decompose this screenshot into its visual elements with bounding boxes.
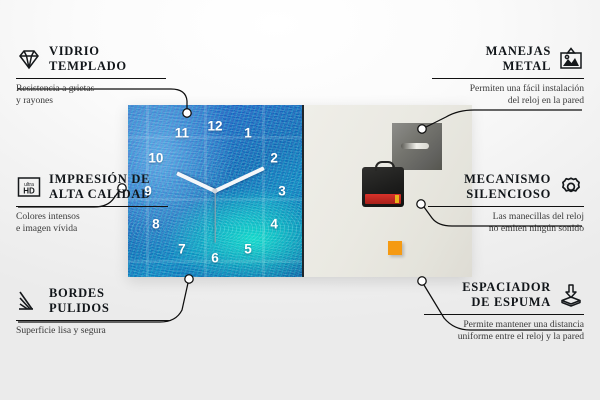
product-photo: 12 1 2 3 4 5 6 7 8 9 10 11	[128, 105, 470, 277]
polished-edges-icon	[16, 289, 42, 313]
callout-header: VIDRIO TEMPLADO	[16, 44, 166, 75]
clock-number-2: 2	[270, 151, 278, 166]
clock-minute-hand	[212, 166, 264, 193]
metal-hanger-plate	[392, 123, 442, 170]
callout-subtitle: Superficie lisa y segura	[16, 325, 171, 337]
mechanism-hook	[375, 161, 395, 171]
callout-espaciador-espuma: ESPACIADOR DE ESPUMA Permite mantener un…	[424, 280, 584, 344]
clock-number-12: 12	[207, 118, 222, 133]
callout-rule	[424, 314, 584, 316]
orange-foam-spacer	[388, 241, 402, 255]
callout-rule	[432, 78, 584, 80]
callout-title: MANEJAS METAL	[486, 44, 551, 75]
callout-subtitle: Resistencia a grietas y rayones	[16, 83, 166, 108]
clock-number-6: 6	[211, 251, 219, 266]
callout-rule	[16, 320, 171, 322]
clock-number-3: 3	[278, 184, 286, 199]
clock-number-5: 5	[244, 242, 252, 257]
callout-subtitle: Permite mantener una distancia uniforme …	[424, 319, 584, 344]
clock-number-9: 9	[144, 184, 152, 199]
clock-number-10: 10	[148, 151, 163, 166]
callout-vidrio-templado: VIDRIO TEMPLADO Resistencia a grietas y …	[16, 44, 166, 108]
svg-text:HD: HD	[23, 187, 35, 196]
clock-center-cap	[213, 189, 218, 194]
callout-header: MECANISMO SILENCIOSO	[428, 172, 584, 203]
silent-quartz-mechanism	[362, 167, 404, 207]
callout-title: VIDRIO TEMPLADO	[49, 44, 127, 75]
picture-frame-icon	[558, 47, 584, 71]
callout-rule	[16, 78, 166, 80]
hanger-keyhole-slot	[401, 143, 429, 149]
clock-second-hand	[214, 189, 215, 243]
callout-subtitle: Las manecillas del reloj no emiten ningú…	[428, 211, 584, 236]
callout-title: ESPACIADOR DE ESPUMA	[462, 280, 551, 311]
callout-impresion-alta-calidad: ultra HD IMPRESIÓN DE ALTA CALIDAD Color…	[16, 172, 168, 236]
callout-header: ESPACIADOR DE ESPUMA	[424, 280, 584, 311]
callout-header: BORDES PULIDOS	[16, 286, 171, 317]
infographic-stage: 12 1 2 3 4 5 6 7 8 9 10 11	[0, 0, 600, 400]
ultra-hd-icon: ultra HD	[16, 175, 42, 199]
callout-mecanismo-silencioso: MECANISMO SILENCIOSO Las manecillas del …	[428, 172, 584, 236]
diamond-icon	[16, 47, 42, 71]
clock-number-8: 8	[152, 216, 160, 231]
callout-header: MANEJAS METAL	[432, 44, 584, 75]
foam-spacer-icon	[558, 283, 584, 307]
callout-title: IMPRESIÓN DE ALTA CALIDAD	[49, 172, 151, 203]
clock-number-7: 7	[178, 242, 186, 257]
clock-hour-hand	[176, 171, 218, 193]
callout-rule	[428, 206, 584, 208]
clock-number-4: 4	[270, 216, 278, 231]
aa-battery	[365, 194, 401, 204]
callout-rule	[16, 206, 168, 208]
callout-manejas-metal: MANEJAS METAL Permiten una fácil instala…	[432, 44, 584, 108]
clock-number-1: 1	[244, 126, 252, 141]
callout-subtitle: Colores intensos e imagen vívida	[16, 211, 168, 236]
callout-title: BORDES PULIDOS	[49, 286, 109, 317]
callout-bordes-pulidos: BORDES PULIDOS Superficie lisa y segura	[16, 286, 171, 337]
gear-icon	[558, 175, 584, 199]
clock-number-11: 11	[175, 126, 189, 141]
callout-subtitle: Permiten una fácil instalación del reloj…	[432, 83, 584, 108]
callout-title: MECANISMO SILENCIOSO	[464, 172, 551, 203]
